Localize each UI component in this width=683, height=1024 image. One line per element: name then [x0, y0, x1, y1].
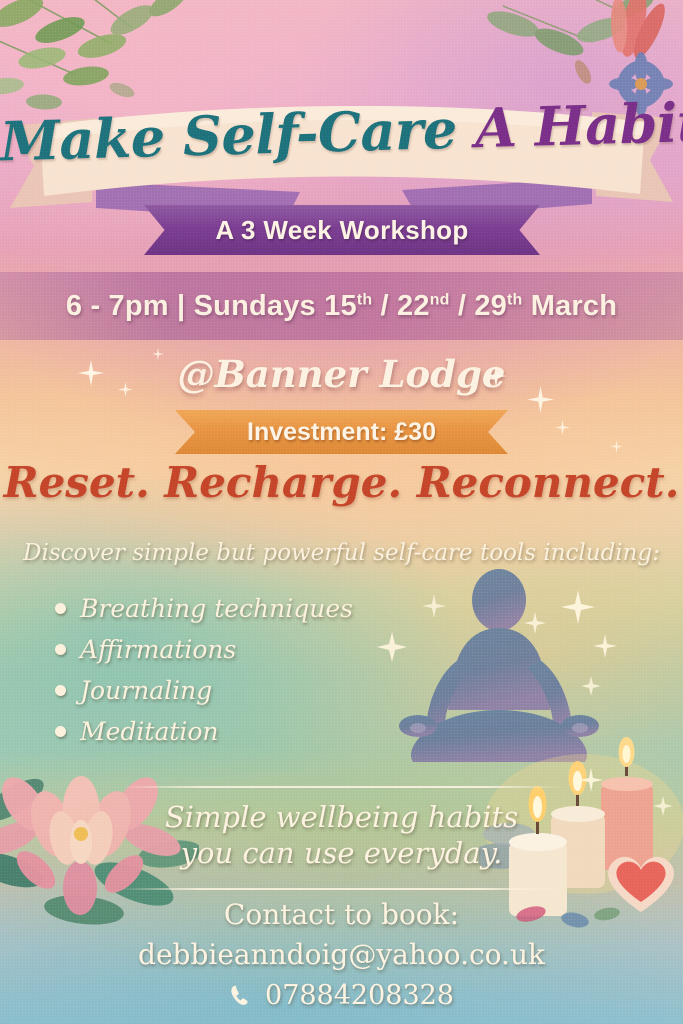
list-item-label: Breathing techniques — [80, 594, 353, 623]
list-item: Affirmations — [55, 629, 353, 670]
sparkle-icon — [377, 590, 617, 696]
divider-line — [120, 888, 563, 890]
title-part-purple: A Habit — [474, 90, 683, 160]
divider-line — [120, 786, 563, 788]
subtitle-label: A 3 Week Workshop — [215, 215, 468, 246]
bullet-icon — [55, 603, 66, 614]
date-line: 6 - 7pm | Sundays 15th / 22nd / 29th Mar… — [66, 290, 617, 323]
subtitle-ribbon: A 3 Week Workshop — [144, 205, 540, 255]
list-item: Journaling — [55, 670, 353, 711]
investment-label: Investment: £30 — [247, 418, 436, 447]
date-ordinal: th — [357, 291, 372, 308]
closing-line-2: you can use everyday. — [0, 836, 683, 872]
date-band: 6 - 7pm | Sundays 15th / 22nd / 29th Mar… — [0, 272, 683, 340]
list-item-label: Meditation — [80, 717, 219, 746]
venue-label: @Banner Lodge — [0, 352, 683, 396]
closing-statement: Simple wellbeing habits you can use ever… — [0, 800, 683, 872]
bullet-icon — [55, 685, 66, 696]
list-item: Meditation — [55, 711, 353, 752]
date-ordinal: nd — [430, 291, 450, 308]
investment-ribbon: Investment: £30 — [175, 410, 508, 454]
list-item-label: Journaling — [80, 676, 212, 705]
poster-canvas: Make Self-Care A Habit A 3 Week Workshop… — [0, 0, 683, 1024]
sparkle-icon — [610, 440, 623, 453]
contact-phone[interactable]: 07884208328 — [265, 980, 454, 1011]
list-item: Breathing techniques — [55, 588, 353, 629]
bullet-icon — [55, 644, 66, 655]
closing-line-1: Simple wellbeing habits — [0, 800, 683, 836]
tools-heading: Discover simple but powerful self-care t… — [0, 540, 683, 566]
tools-list: Breathing techniquesAffirmationsJournali… — [55, 588, 353, 752]
meditating-figure-icon — [372, 560, 627, 790]
sparkle-icon — [555, 420, 570, 435]
date-ordinal: th — [507, 291, 522, 308]
bullet-icon — [55, 726, 66, 737]
contact-label: Contact to book: — [0, 898, 683, 931]
contact-email[interactable]: debbieanndoig@yahoo.co.uk — [0, 938, 683, 971]
title-part-teal: Make Self-Care — [0, 97, 458, 174]
contact-phone-row: 07884208328 — [0, 980, 683, 1011]
list-item-label: Affirmations — [80, 635, 236, 664]
tagline-label: Reset. Recharge. Reconnect. — [0, 458, 683, 507]
phone-handset-icon — [229, 984, 253, 1008]
